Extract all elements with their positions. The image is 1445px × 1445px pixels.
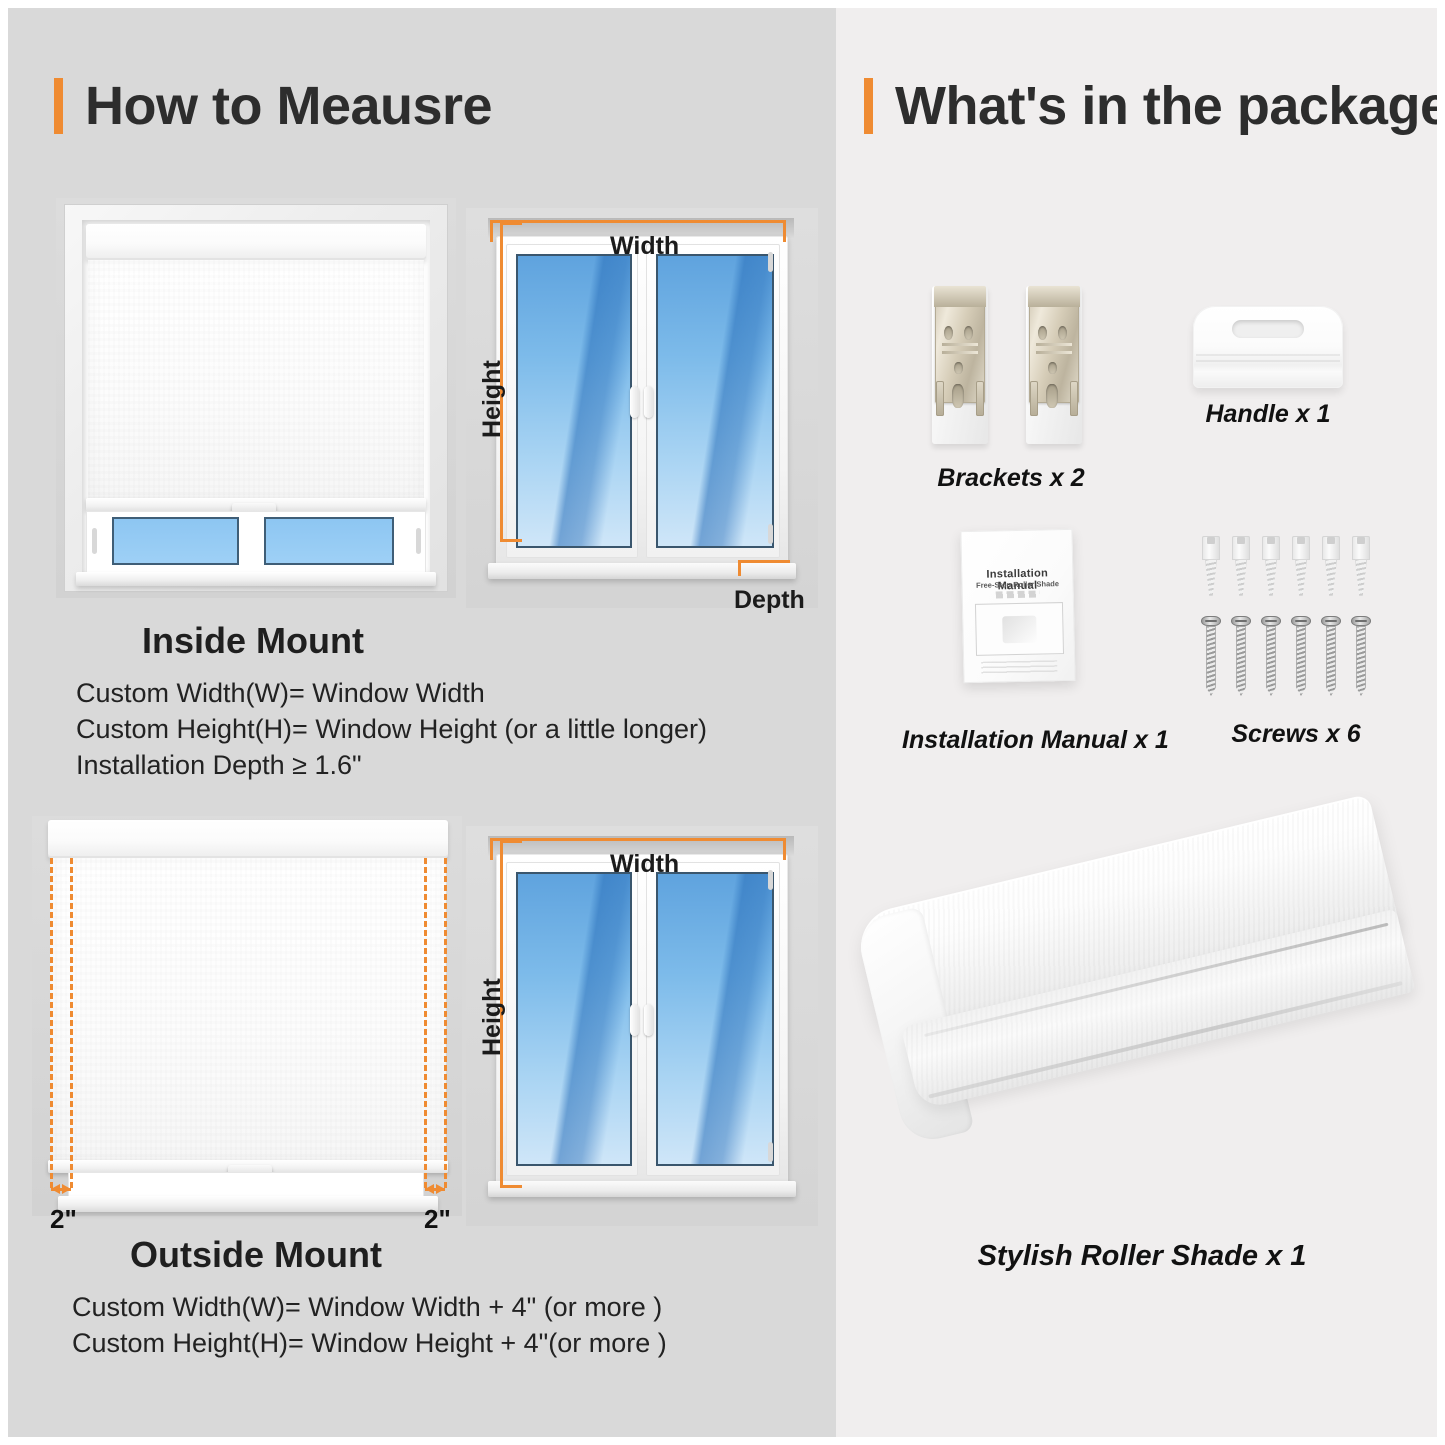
- window-latch-right: [416, 528, 421, 554]
- bracket-center-hole: [952, 384, 964, 408]
- shade-headrail: [48, 820, 448, 858]
- handle-body: [1193, 306, 1343, 388]
- package-heading: What's in the package: [864, 78, 1437, 134]
- shade-headrail: [86, 224, 426, 260]
- overhang-guide-left-outer: [50, 858, 53, 1188]
- anchor-body: [1265, 559, 1277, 596]
- wall-anchor: [1352, 536, 1370, 596]
- window-glass-left: [516, 254, 632, 548]
- width-label: Width: [610, 850, 679, 879]
- brackets-label: Brackets x 2: [896, 464, 1126, 493]
- wall-anchor: [1262, 536, 1280, 596]
- inside-mount-spec-1: Custom Height(H)= Window Height (or a li…: [76, 714, 707, 745]
- anchor-head: [1352, 536, 1370, 560]
- screw-head: [1231, 616, 1251, 626]
- how-to-measure-panel: How to Meausre: [8, 8, 836, 1437]
- screw-head: [1351, 616, 1371, 626]
- infographic-page: How to Meausre: [0, 0, 1445, 1445]
- shade-fabric: [88, 260, 424, 502]
- bracket-hole: [1038, 326, 1047, 340]
- inside-mount-spec-0: Custom Width(W)= Window Width: [76, 678, 485, 709]
- roller-shade-label: Stylish Roller Shade x 1: [942, 1240, 1342, 1273]
- screw: [1231, 616, 1251, 696]
- bracket-hole: [954, 362, 962, 375]
- anchor-body: [1325, 559, 1337, 596]
- page-title: How to Meausre: [85, 79, 492, 133]
- window-hinge-top: [768, 252, 773, 272]
- anchor-body: [1205, 559, 1217, 596]
- screw: [1291, 616, 1311, 696]
- bracket-hole: [944, 326, 953, 340]
- screw-shaft: [1296, 626, 1306, 696]
- depth-measure-line: [738, 560, 790, 563]
- height-measure-cap-top: [500, 840, 522, 843]
- bracket-part-1: [932, 286, 988, 444]
- whats-in-the-package-panel: What's in the package: [836, 8, 1437, 1437]
- manual-cover-subtitle: Free-Stop Roller Shade: [973, 579, 1063, 590]
- window-sill: [58, 1196, 438, 1212]
- anchor-head: [1322, 536, 1340, 560]
- glass-gleam: [543, 254, 632, 548]
- screws-label: Screws x 6: [1186, 720, 1406, 749]
- bracket-ridge: [942, 343, 978, 346]
- height-label: Height: [478, 978, 507, 1056]
- bracket-ridge: [942, 351, 978, 354]
- width-measure-line: [490, 220, 786, 223]
- glass-gleam: [543, 872, 632, 1166]
- shade-fabric: [50, 858, 446, 1164]
- overhang-arrow-left: [51, 1188, 71, 1191]
- bracket-top-flange: [934, 286, 986, 307]
- width-measure-cap-right: [783, 220, 786, 242]
- window-latch-left: [92, 528, 97, 554]
- how-to-measure-heading: How to Meausre: [54, 78, 492, 134]
- window-hinge-bottom: [768, 524, 773, 544]
- overhang-right-label: 2": [424, 1204, 451, 1235]
- anchor-head: [1262, 536, 1280, 560]
- manual-cover-lines: [995, 590, 1040, 598]
- roller-shade-hero-image: [882, 914, 1412, 1164]
- bracket-slot-right: [976, 381, 984, 416]
- width-label: Width: [610, 232, 679, 261]
- window-glass-right: [264, 517, 394, 565]
- anchor-head: [1292, 536, 1310, 560]
- bracket-hole: [1048, 362, 1056, 375]
- bracket-slot-right: [1070, 381, 1078, 416]
- inside-mount-title: Inside Mount: [142, 620, 364, 662]
- outside-mount-shade-illustration: [32, 816, 462, 1216]
- window-glass-right: [656, 872, 774, 1166]
- width-measure-cap-right: [783, 838, 786, 860]
- depth-label: Depth: [734, 586, 805, 615]
- bracket-top-flange: [1028, 286, 1080, 307]
- anchor-head: [1202, 536, 1220, 560]
- screw-head: [1291, 616, 1311, 626]
- anchor-body: [1235, 559, 1247, 596]
- roller-shade-tube: [853, 794, 1427, 1161]
- depth-measure-cap: [738, 560, 741, 576]
- inside-mount-shade-illustration: [56, 198, 456, 598]
- installation-manual-label: Installation Manual x 1: [902, 726, 1146, 755]
- height-label: Height: [478, 360, 507, 438]
- width-measure-line: [490, 838, 786, 841]
- window-hinge-bottom: [768, 1142, 773, 1162]
- screw: [1201, 616, 1221, 696]
- width-measure-cap-left: [490, 838, 493, 860]
- manual-cover-footer-text: [981, 660, 1057, 675]
- handle-part: [1193, 306, 1343, 388]
- window-sill: [76, 572, 436, 586]
- screw-shaft: [1206, 626, 1216, 696]
- inside-mount-measure-diagram: [466, 208, 818, 608]
- screw: [1261, 616, 1281, 696]
- height-measure-cap-bottom: [500, 1185, 522, 1188]
- window-sill: [488, 1181, 796, 1197]
- package-title: What's in the package: [895, 79, 1437, 133]
- height-measure-cap-bottom: [500, 539, 522, 542]
- bracket-ridge: [1036, 351, 1072, 354]
- manual-cover-figure: [975, 602, 1063, 656]
- handle-groove: [1196, 354, 1340, 356]
- screw: [1351, 616, 1371, 696]
- glass-gleam: [684, 254, 774, 548]
- overhang-left-label: 2": [50, 1204, 77, 1235]
- inside-mount-spec-2: Installation Depth ≥ 1.6": [76, 750, 362, 781]
- outside-mount-spec-1: Custom Height(H)= Window Height + 4"(or …: [72, 1328, 667, 1359]
- window-handle-right: [644, 1004, 653, 1036]
- glass-gleam: [684, 872, 774, 1166]
- screw-shaft: [1236, 626, 1246, 696]
- height-measure-cap-top: [500, 222, 522, 225]
- window-hinge-top: [768, 870, 773, 890]
- handle-groove: [1196, 360, 1340, 362]
- wall-anchor: [1292, 536, 1310, 596]
- screw: [1321, 616, 1341, 696]
- overhang-guide-left-inner: [70, 858, 73, 1188]
- window-sash: [68, 1172, 424, 1198]
- window-handle-left: [630, 386, 639, 418]
- outside-mount-measure-diagram: [466, 826, 818, 1226]
- wall-anchor: [1322, 536, 1340, 596]
- outside-mount-spec-0: Custom Width(W)= Window Width + 4" (or m…: [72, 1292, 662, 1323]
- wall-anchor: [1232, 536, 1250, 596]
- screw-shaft: [1356, 626, 1366, 696]
- bracket-center-hole: [1046, 384, 1058, 408]
- wall-anchor: [1202, 536, 1220, 596]
- bracket-slot-left: [1030, 381, 1038, 416]
- window-handle-right: [644, 386, 653, 418]
- accent-bar-icon: [54, 78, 63, 134]
- handle-label: Handle x 1: [1168, 400, 1368, 429]
- screw-head: [1261, 616, 1281, 626]
- window-glass-left: [516, 872, 632, 1166]
- overhang-guide-right-inner: [424, 858, 427, 1188]
- window-handle-left: [630, 1004, 639, 1036]
- anchor-body: [1295, 559, 1307, 596]
- window-sill: [488, 563, 796, 579]
- accent-bar-icon: [864, 78, 873, 134]
- width-measure-cap-left: [490, 220, 493, 242]
- window-glass-right: [656, 254, 774, 548]
- bracket-ridge: [1036, 343, 1072, 346]
- overhang-arrow-right: [425, 1188, 445, 1191]
- handle-grip-slot: [1232, 320, 1304, 338]
- screw-head: [1201, 616, 1221, 626]
- screw-head: [1321, 616, 1341, 626]
- anchor-head: [1232, 536, 1250, 560]
- anchor-body: [1355, 559, 1367, 596]
- screw-shaft: [1266, 626, 1276, 696]
- bracket-slot-left: [936, 381, 944, 416]
- installation-manual-part: Installation Manual Free-Stop Roller Sha…: [960, 529, 1075, 683]
- panel-container: How to Meausre: [8, 8, 1437, 1437]
- screw-shaft: [1326, 626, 1336, 696]
- bracket-part-2: [1026, 286, 1082, 444]
- window-glass-left: [112, 517, 239, 565]
- outside-mount-title: Outside Mount: [130, 1234, 382, 1276]
- overhang-guide-right-outer: [444, 858, 447, 1188]
